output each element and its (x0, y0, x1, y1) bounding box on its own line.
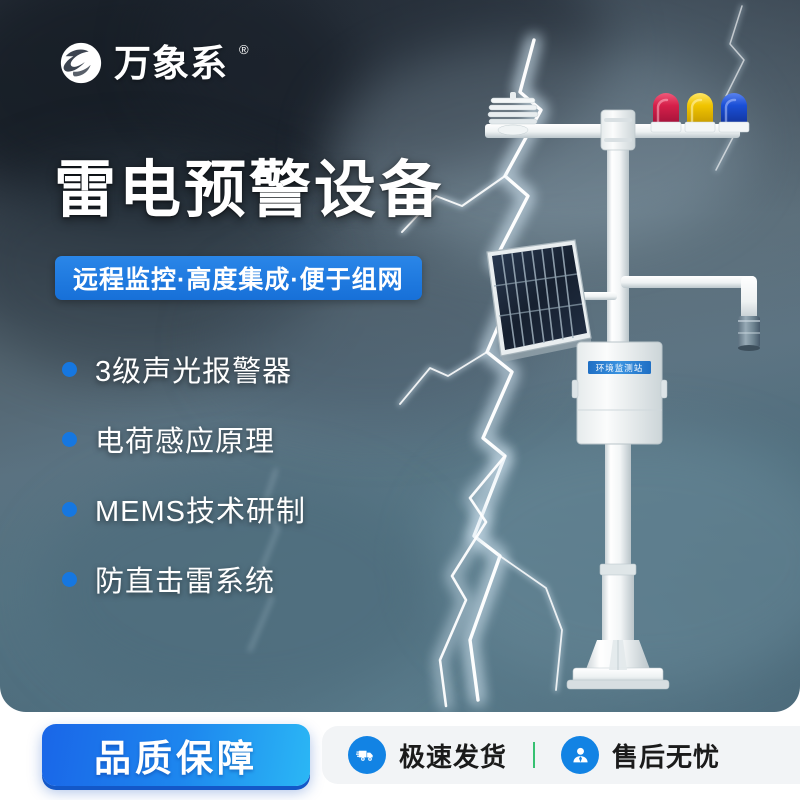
alarm-beacon-cluster (651, 93, 749, 132)
bottom-service-bar: 品质保障 极速发货 (0, 712, 800, 800)
feature-label: 防直击雷系统 (95, 558, 275, 600)
list-item: 电荷感应原理 (62, 418, 306, 460)
feature-list: 3级声光报警器 电荷感应原理 MEMS技术研制 防直击雷系统 (62, 348, 306, 600)
swirl-globe-logo-icon (58, 40, 104, 86)
service-label: 售后无忧 (612, 737, 720, 774)
bullet-dot-icon (62, 502, 77, 517)
electric-field-sensor-arm (621, 276, 760, 351)
crossbar-clamp (601, 110, 635, 150)
list-item: 3级声光报警器 (62, 348, 306, 390)
page-title: 雷电预警设备 (54, 158, 444, 225)
feature-label: MEMS技术研制 (95, 488, 306, 530)
quality-assurance-badge[interactable]: 品质保障 (42, 724, 310, 786)
feature-label: 电荷感应原理 (95, 418, 275, 460)
controller-enclosure: 环境监测站 (572, 342, 667, 444)
list-item: MEMS技术研制 (62, 488, 306, 530)
feature-label: 3级声光报警器 (95, 348, 292, 390)
service-label: 极速发货 (399, 737, 507, 774)
quality-assurance-label: 品质保障 (94, 728, 258, 782)
bullet-dot-icon (62, 362, 77, 377)
brand-name: 万象系 (114, 45, 228, 82)
list-item: 防直击雷系统 (62, 558, 306, 600)
registered-trademark-icon: ® (239, 43, 249, 56)
red-alarm-beacon (651, 93, 681, 132)
customer-service-person-icon (561, 736, 599, 774)
subtitle-banner: 远程监控·高度集成·便于组网 (55, 256, 422, 300)
product-poster: 万象系 ® 雷电预警设备 远程监控·高度集成·便于组网 3级声光报警器 电荷感应… (0, 0, 800, 800)
delivery-truck-icon (348, 736, 386, 774)
service-fast-shipping[interactable]: 极速发货 (322, 736, 533, 774)
bullet-dot-icon (62, 432, 77, 447)
bullet-dot-icon (62, 572, 77, 587)
product-image-lightning-warning-station: 环境监测站 (455, 80, 800, 705)
service-after-sales[interactable]: 售后无忧 (535, 736, 746, 774)
enclosure-label-text: 环境监测站 (596, 363, 644, 374)
yellow-alarm-beacon (685, 93, 715, 132)
base-flange (567, 640, 669, 689)
blue-alarm-beacon (719, 93, 749, 132)
brand-logo: 万象系 ® (58, 40, 249, 86)
service-badges-panel: 极速发货 售后无忧 (322, 726, 800, 784)
